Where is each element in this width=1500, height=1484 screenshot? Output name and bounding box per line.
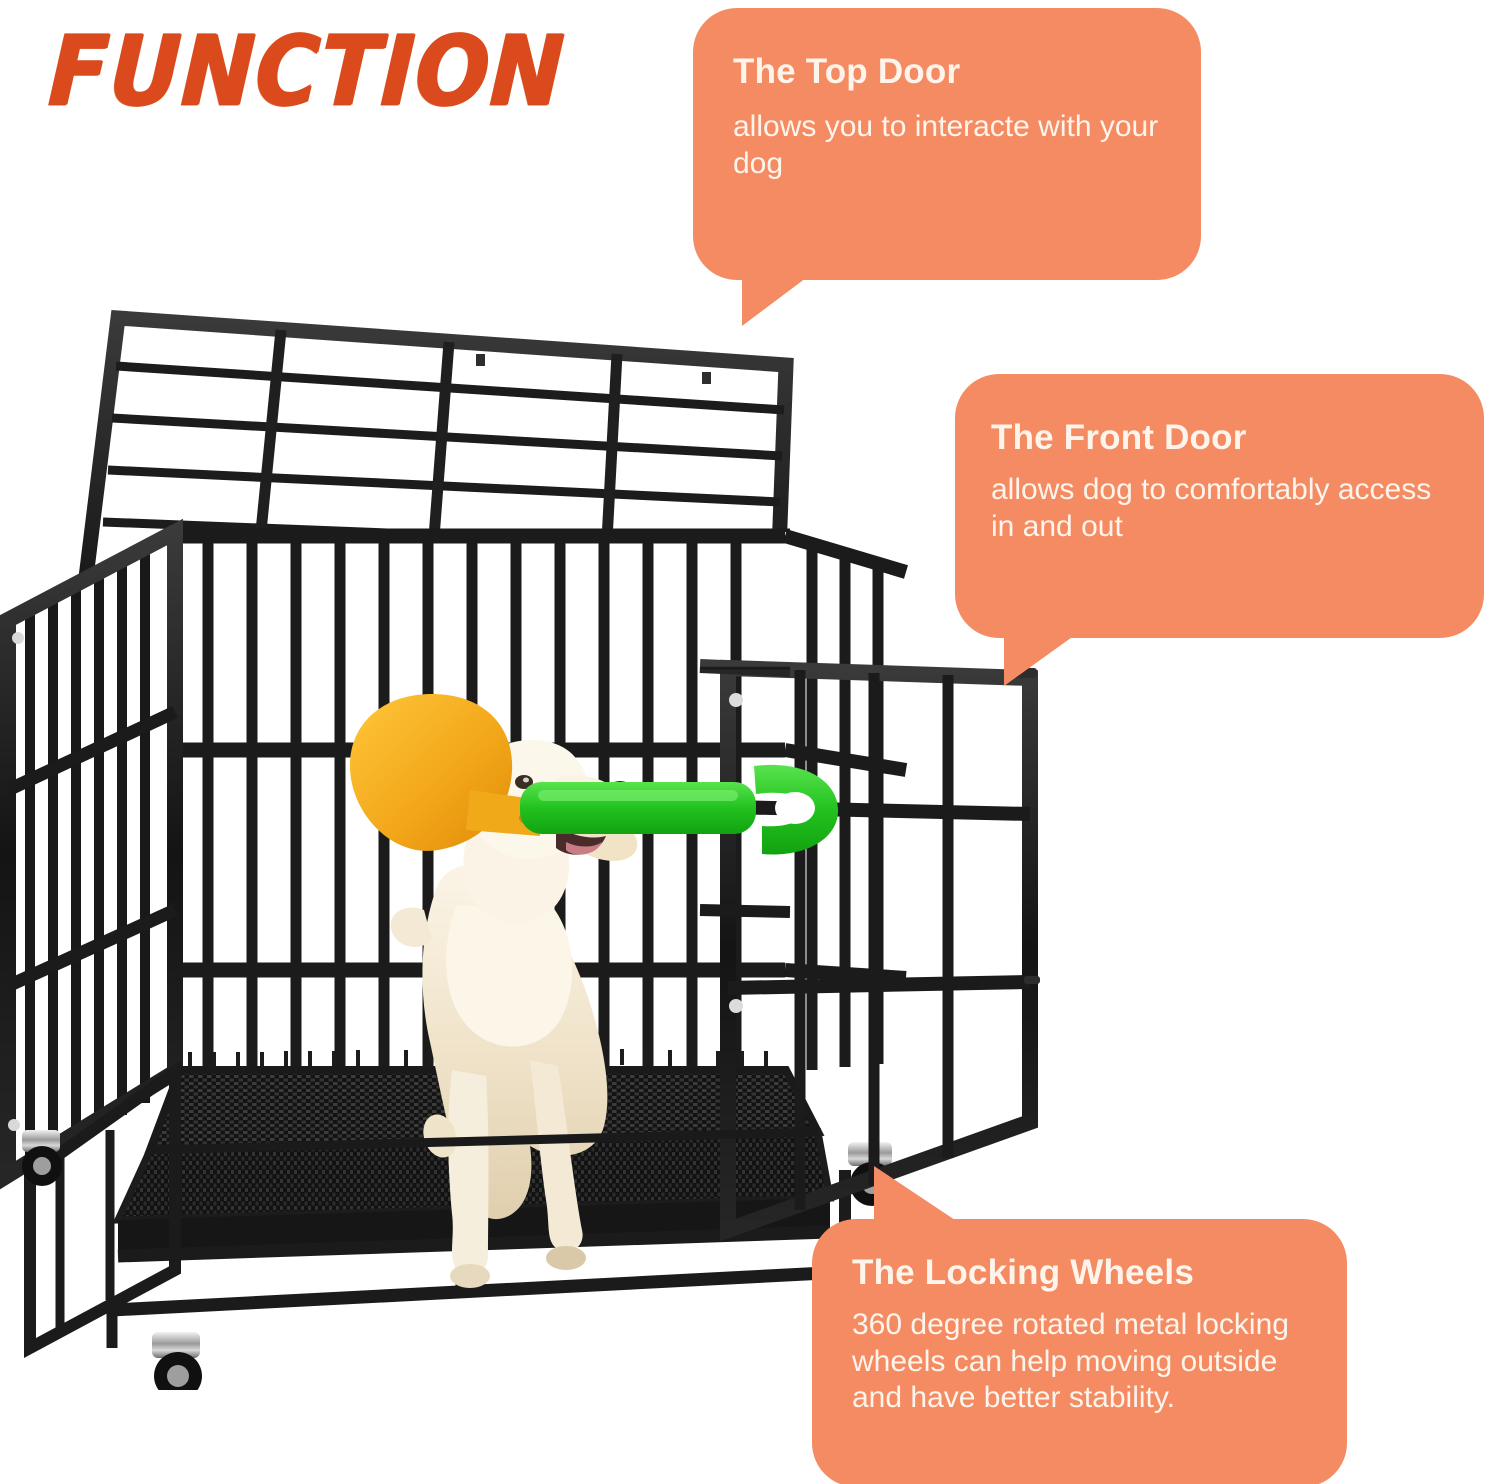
callout-locking-wheels-heading: The Locking Wheels — [852, 1253, 1323, 1293]
callout-front-door-body: allows dog to comfortably access in and … — [991, 472, 1458, 545]
left-side-panel — [8, 532, 175, 1175]
callout-front-door-heading: The Front Door — [991, 418, 1458, 458]
callout-locking-wheels-tail — [874, 1166, 958, 1222]
callout-front-door-tail — [1004, 630, 1082, 686]
callout-top-door-body: allows you to interacte with your dog — [733, 109, 1167, 182]
infographic-page: FUNCTION — [0, 0, 1500, 1484]
caster-wheel-front-left — [152, 1332, 202, 1390]
callout-top-door-heading: The Top Door — [733, 52, 1167, 92]
page-title-text: FUNCTION — [46, 16, 567, 128]
callout-top-door: The Top Door allows you to interacte wit… — [693, 8, 1201, 280]
page-title: FUNCTION — [46, 16, 567, 128]
caster-wheel-back-left — [22, 1130, 62, 1186]
callout-front-door: The Front Door allows dog to comfortably… — [955, 374, 1484, 638]
callout-top-door-tail — [742, 272, 814, 326]
callout-locking-wheels: The Locking Wheels 360 degree rotated me… — [812, 1219, 1347, 1484]
front-door-panel — [728, 668, 1040, 1230]
callout-locking-wheels-body: 360 degree rotated metal locking wheels … — [852, 1307, 1323, 1417]
